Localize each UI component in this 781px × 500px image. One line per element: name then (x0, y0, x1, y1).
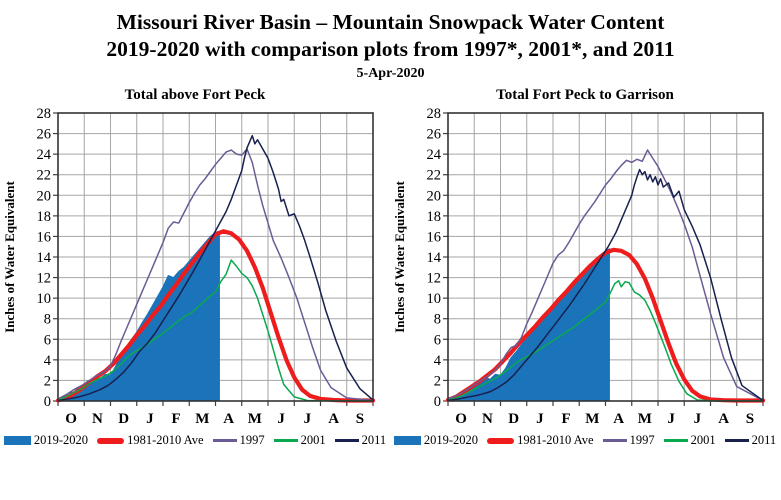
y-tick-label: 24 (37, 147, 52, 163)
legend-label: 1981-2010 Ave (127, 433, 204, 448)
x-tick-label: M (248, 411, 262, 427)
x-tick-label: F (562, 411, 571, 427)
x-tick-label: J (146, 411, 154, 427)
plot-area-left: 0246810121416182022242628ONDJFMAMJJASMon… (0, 105, 390, 435)
x-tick-label: J (304, 411, 312, 427)
plot-area-right: 0246810121416182022242628ONDJFMAMJJASMon… (390, 105, 780, 435)
x-tick-label: A (328, 411, 339, 427)
header: Missouri River Basin – Mountain Snowpack… (0, 0, 781, 82)
legend-item-2019-2020[interactable]: 2019-2020 (4, 433, 88, 448)
legend-item-2001[interactable]: 2001 (274, 433, 326, 448)
x-tick-label: M (195, 411, 209, 427)
x-tick-label: J (667, 411, 675, 427)
legend-label: 1997 (240, 433, 265, 448)
chart-panel-right: Total Fort Peck to Garrison 024681012141… (390, 82, 780, 448)
legend-label: 2011 (362, 433, 387, 448)
legend-swatch-icon (603, 439, 627, 442)
legend-swatch-icon (213, 439, 237, 442)
y-tick-label: 6 (44, 332, 51, 348)
charts-container: Total above Fort Peck 024681012141618202… (0, 82, 781, 448)
x-tick-label: J (694, 411, 702, 427)
legend-item-1981-2010-ave[interactable]: 1981-2010 Ave (487, 433, 594, 448)
x-tick-label: J (536, 411, 544, 427)
chart-panel-left: Total above Fort Peck 024681012141618202… (0, 82, 390, 448)
chart-svg-right: 0246810121416182022242628ONDJFMAMJJASMon… (390, 105, 780, 435)
y-tick-label: 22 (37, 168, 52, 184)
legend-label: 2001 (301, 433, 326, 448)
legend-swatch-icon (664, 439, 688, 442)
y-tick-label: 0 (434, 394, 441, 410)
y-tick-label: 16 (427, 229, 442, 245)
legend-left: 2019-20201981-2010 Ave199720012011 (0, 433, 390, 448)
y-tick-label: 8 (44, 312, 51, 328)
legend-item-1981-2010-ave[interactable]: 1981-2010 Ave (97, 433, 204, 448)
x-tick-label: J (277, 411, 285, 427)
y-tick-label: 10 (37, 291, 52, 307)
legend-item-2001[interactable]: 2001 (664, 433, 716, 448)
y-tick-label: 14 (37, 250, 52, 266)
y-tick-label: 28 (427, 106, 442, 122)
y-tick-label: 2 (44, 373, 51, 389)
legend-swatch-icon (394, 436, 421, 445)
x-tick-label: O (455, 411, 467, 427)
legend-label: 1981-2010 Ave (517, 433, 594, 448)
legend-label: 2011 (752, 433, 777, 448)
legend-item-2011[interactable]: 2011 (725, 433, 777, 448)
chart-title-left: Total above Fort Peck (0, 87, 390, 104)
x-tick-label: N (482, 411, 493, 427)
legend-swatch-icon (4, 436, 31, 445)
legend-right: 2019-20201981-2010 Ave199720012011 (390, 433, 780, 448)
page-title-line1: Missouri River Basin – Mountain Snowpack… (0, 9, 781, 36)
x-tick-label: S (356, 411, 364, 427)
legend-swatch-icon (487, 438, 514, 444)
y-axis-label: Inches of Water Equivalent (2, 181, 17, 333)
x-tick-label: D (508, 411, 519, 427)
y-tick-label: 14 (427, 250, 442, 266)
legend-item-2019-2020[interactable]: 2019-2020 (394, 433, 478, 448)
y-tick-label: 26 (427, 127, 442, 143)
y-tick-label: 22 (427, 168, 442, 184)
x-tick-label: O (65, 411, 77, 427)
legend-swatch-icon (725, 439, 749, 442)
y-tick-label: 6 (434, 332, 441, 348)
legend-swatch-icon (97, 438, 124, 444)
y-tick-label: 26 (37, 127, 52, 143)
legend-swatch-icon (274, 439, 298, 442)
y-tick-label: 24 (427, 147, 442, 163)
y-tick-label: 12 (427, 271, 442, 287)
x-tick-label: A (613, 411, 624, 427)
x-tick-label: M (638, 411, 652, 427)
y-tick-label: 2 (434, 373, 441, 389)
y-tick-label: 8 (434, 312, 441, 328)
legend-item-1997[interactable]: 1997 (603, 433, 655, 448)
x-tick-label: S (746, 411, 754, 427)
legend-item-2011[interactable]: 2011 (335, 433, 387, 448)
legend-label: 2001 (691, 433, 716, 448)
chart-svg-left: 0246810121416182022242628ONDJFMAMJJASMon… (0, 105, 390, 435)
legend-label: 2019-2020 (424, 433, 478, 448)
x-tick-label: M (585, 411, 599, 427)
legend-label: 2019-2020 (34, 433, 88, 448)
report-date: 5-Apr-2020 (0, 66, 781, 82)
y-tick-label: 20 (37, 188, 52, 204)
x-tick-label: N (92, 411, 103, 427)
chart-title-right: Total Fort Peck to Garrison (390, 87, 780, 104)
page-title-line2: 2019-2020 with comparison plots from 199… (0, 36, 781, 63)
y-tick-label: 4 (434, 353, 442, 369)
y-tick-label: 20 (427, 188, 442, 204)
y-tick-label: 18 (37, 209, 52, 225)
x-tick-label: A (223, 411, 234, 427)
y-tick-label: 10 (427, 291, 442, 307)
legend-swatch-icon (335, 439, 359, 442)
y-tick-label: 0 (44, 394, 51, 410)
x-tick-label: D (118, 411, 129, 427)
legend-item-1997[interactable]: 1997 (213, 433, 265, 448)
y-tick-label: 4 (44, 353, 52, 369)
y-tick-label: 28 (37, 106, 52, 122)
y-tick-label: 16 (37, 229, 52, 245)
legend-label: 1997 (630, 433, 655, 448)
x-tick-label: A (718, 411, 729, 427)
y-axis-label: Inches of Water Equivalent (392, 181, 407, 333)
x-tick-label: F (172, 411, 181, 427)
y-tick-label: 12 (37, 271, 52, 287)
y-tick-label: 18 (427, 209, 442, 225)
